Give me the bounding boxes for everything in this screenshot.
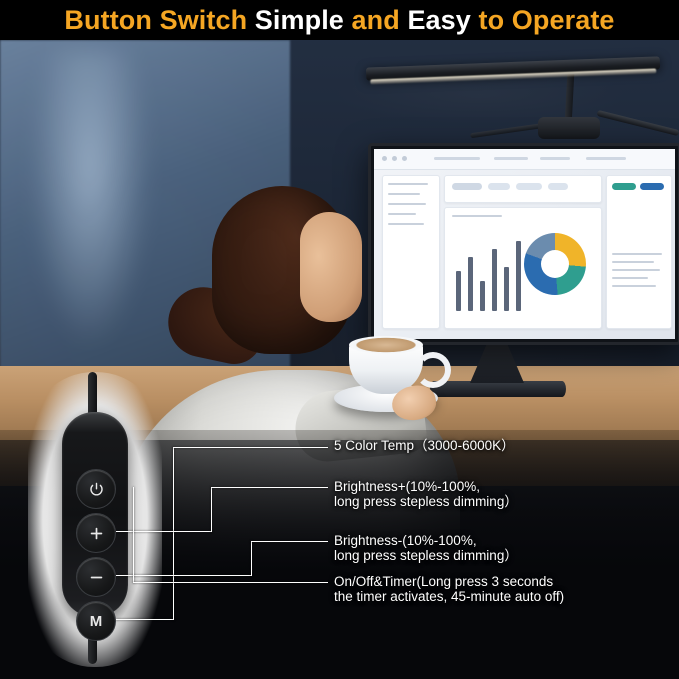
callout-power-timer: On/Off&Timer(Long press 3 seconds the ti… [334, 574, 564, 604]
letter-m-icon: M [90, 614, 103, 629]
power-timer-button[interactable] [76, 469, 116, 509]
headline-banner: Button Switch Simple and Easy to Operate [0, 0, 679, 40]
power-icon [88, 481, 105, 498]
headline-text: Button Switch Simple and Easy to Operate [64, 5, 614, 36]
leader-line-brightness-up-b [211, 487, 212, 532]
callout-brightness-down-line2: long press stepless dimming） [334, 548, 518, 563]
leader-line-power-b [133, 582, 328, 583]
product-photo: M 5 Color Temp（3000-6000K） Brightness+(1… [0, 0, 679, 679]
mode-color-temp-button[interactable]: M [76, 601, 116, 641]
minus-icon [88, 569, 105, 586]
monitor-screen [374, 149, 675, 339]
leader-line-power-a [133, 487, 134, 583]
coffee-surface [349, 336, 423, 354]
callout-power-timer-line1: On/Off&Timer(Long press 3 seconds [334, 574, 564, 589]
callout-color-temp-line1: 5 Color Temp（3000-6000K） [334, 438, 515, 453]
leader-line-color-temp-a [116, 619, 174, 620]
headline-part4: Easy [407, 5, 470, 35]
leader-line-brightness-down-a [116, 575, 252, 576]
callout-brightness-up-line1: Brightness+(10%-100%, [334, 479, 518, 494]
headline-part1: Button Switch [64, 5, 254, 35]
monitor-base [430, 381, 566, 397]
leader-line-brightness-down-b [251, 541, 252, 576]
brightness-down-button[interactable] [76, 557, 116, 597]
brightness-up-button[interactable] [76, 513, 116, 553]
desk-monitor [368, 143, 679, 345]
callout-power-timer-line2: the timer activates, 45-minute auto off) [334, 589, 564, 604]
leader-line-color-temp-b [173, 447, 174, 620]
leader-line-brightness-up-c [211, 487, 328, 488]
leader-line-brightness-down-c [251, 541, 328, 542]
leader-line-color-temp-c [173, 447, 328, 448]
callout-color-temp: 5 Color Temp（3000-6000K） [334, 438, 515, 453]
headline-part3: and [344, 5, 408, 35]
plus-icon [88, 525, 105, 542]
leader-line-brightness-up-a [116, 531, 212, 532]
callout-brightness-up: Brightness+(10%-100%, long press steples… [334, 479, 518, 509]
cup-handle [415, 352, 451, 388]
callout-brightness-down: Brightness-(10%-100%, long press steples… [334, 533, 518, 563]
headline-part5: to Operate [471, 5, 615, 35]
headline-part2: Simple [255, 5, 344, 35]
callout-brightness-up-line2: long press stepless dimming） [334, 494, 518, 509]
lamp-hub [538, 117, 600, 139]
callout-brightness-down-line1: Brightness-(10%-100%, [334, 533, 518, 548]
person-face [300, 212, 362, 322]
